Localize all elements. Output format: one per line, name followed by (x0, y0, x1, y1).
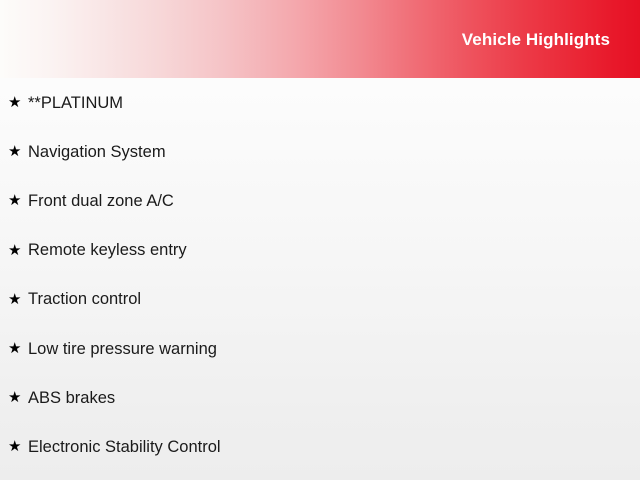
list-item: ★ Electronic Stability Control (0, 422, 640, 471)
star-icon: ★ (8, 292, 28, 307)
star-icon: ★ (8, 193, 28, 208)
star-icon: ★ (8, 243, 28, 258)
page-title: Vehicle Highlights (462, 30, 610, 50)
list-item: ★ Traction control (0, 275, 640, 324)
star-icon: ★ (8, 144, 28, 159)
header-banner: Vehicle Highlights (0, 0, 640, 78)
star-icon: ★ (8, 341, 28, 356)
star-icon: ★ (8, 439, 28, 454)
vehicle-highlights-page: Vehicle Highlights ★ **PLATINUM ★ Naviga… (0, 0, 640, 480)
list-item-label: Front dual zone A/C (28, 191, 174, 211)
list-item: ★ Low tire pressure warning (0, 324, 640, 373)
list-item-label: ABS brakes (28, 388, 115, 408)
list-item-label: Electronic Stability Control (28, 437, 221, 457)
star-icon: ★ (8, 390, 28, 405)
list-item: ★ **PLATINUM (0, 78, 640, 127)
vehicle-highlights-list: ★ **PLATINUM ★ Navigation System ★ Front… (0, 78, 640, 472)
list-item-label: **PLATINUM (28, 93, 123, 113)
list-item-label: Traction control (28, 289, 141, 309)
star-icon: ★ (8, 95, 28, 110)
list-item: ★ Remote keyless entry (0, 226, 640, 275)
list-item: ★ Front dual zone A/C (0, 176, 640, 225)
list-item-label: Navigation System (28, 142, 166, 162)
list-item: ★ ABS brakes (0, 373, 640, 422)
list-item: ★ Navigation System (0, 127, 640, 176)
list-item-label: Low tire pressure warning (28, 339, 217, 359)
list-item-label: Remote keyless entry (28, 240, 187, 260)
